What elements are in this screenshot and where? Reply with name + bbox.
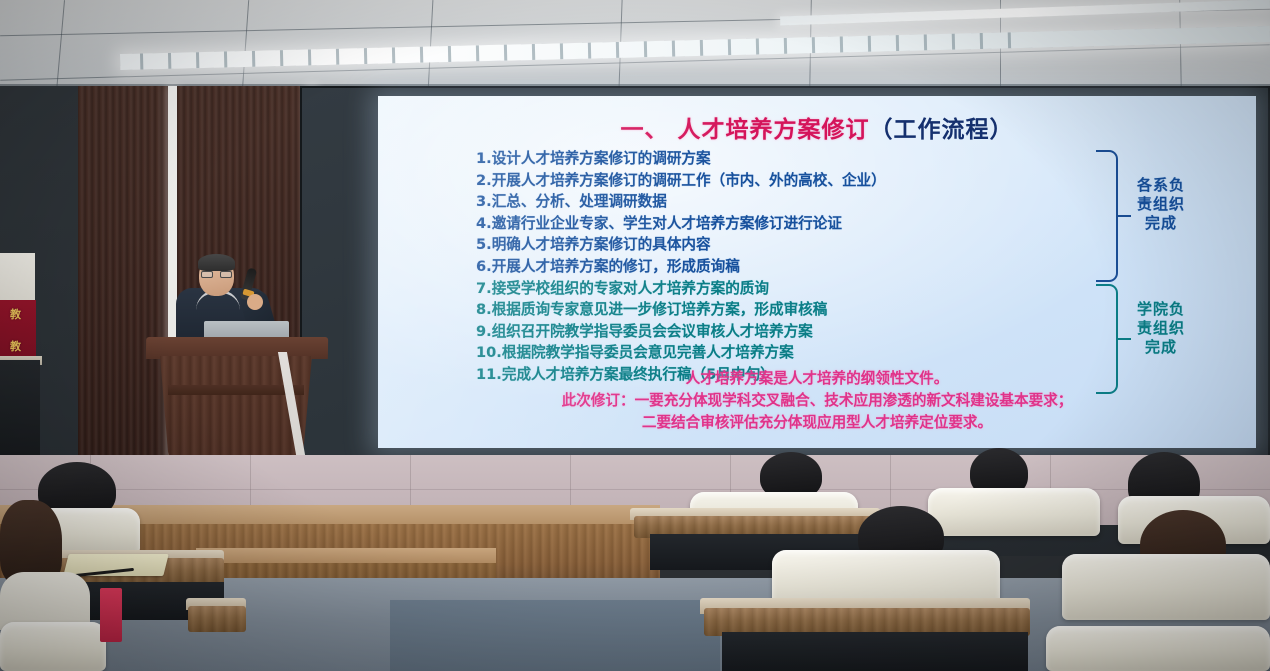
presenter-hand <box>247 294 263 310</box>
banner-char-bottom: 教 <box>10 338 21 354</box>
group-bracket-stem-departments <box>1118 215 1131 217</box>
podium-top <box>146 337 328 359</box>
slide-note-2: 此次修订：一要充分体现学科交叉融合、技术应用渗透的新文科建设基本要求； <box>378 390 1256 411</box>
group-bracket-stem-college <box>1118 338 1131 340</box>
slide-title: 一、 人才培养方案修订（工作流程） <box>378 110 1256 144</box>
red-banner: 教 教 <box>0 300 36 362</box>
slide-note-3: 二要结合审核评估充分体现应用型人才培养定位要求。 <box>378 412 1256 433</box>
group-label-departments: 各系负责组织完成 <box>1134 176 1188 233</box>
presenter-glasses <box>201 271 232 278</box>
list-item: 4.邀请行业企业专家、学生对人才培养方案修订进行论证 <box>476 213 1136 235</box>
ceiling-light-secondary <box>780 0 1270 26</box>
list-item: 8.根据质询专家意见进一步修订培养方案，形成审核稿 <box>476 299 1136 321</box>
slide-title-main: 一、 人才培养方案修订 <box>620 117 869 143</box>
ceiling <box>0 0 1270 92</box>
group-bracket-departments <box>1096 150 1118 282</box>
audience-seat <box>928 488 1100 536</box>
list-item: 7.接受学校组织的专家对人才培养方案的质询 <box>476 278 1136 300</box>
list-item: 3.汇总、分析、处理调研数据 <box>476 191 1136 213</box>
audience-desk <box>188 606 246 632</box>
group-label-college: 学院负责组织完成 <box>1134 300 1188 357</box>
list-item: 9.组织召开院教学指导委员会会议审核人才培养方案 <box>476 321 1136 343</box>
projected-slide: 一、 人才培养方案修订（工作流程） 1.设计人才培养方案修订的调研方案 2.开展… <box>378 96 1256 448</box>
red-chair-pad <box>100 588 122 642</box>
list-item: 1.设计人才培养方案修订的调研方案 <box>476 148 1136 170</box>
list-item: 5.明确人才培养方案修订的具体内容 <box>476 234 1136 256</box>
slide-note-1: 人才培养方案是人才培养的纲领性文件。 <box>378 368 1256 389</box>
ceiling-light-fixture <box>120 26 1270 70</box>
floor-carpet <box>390 600 720 671</box>
list-item: 6.开展人才培养方案的修订，形成质询稿 <box>476 256 1136 278</box>
audience-seat <box>1046 626 1270 671</box>
audience-seat <box>1062 554 1270 620</box>
audience-desk-front <box>722 632 1028 671</box>
side-table <box>0 360 40 470</box>
conference-room-scene: 教 教 一、 人才培养方案修订（工作流程） 1.设计人才培养方案修订的调研方案 … <box>0 0 1270 671</box>
presenter-hair <box>198 254 235 271</box>
slide-step-list: 1.设计人才培养方案修订的调研方案 2.开展人才培养方案修订的调研工作（市内、外… <box>476 148 1136 386</box>
audience-seat <box>0 622 106 671</box>
list-item: 10.根据院教学指导委员会意见完善人才培养方案 <box>476 342 1136 364</box>
list-item: 2.开展人才培养方案修订的调研工作（市内、外的高校、企业） <box>476 170 1136 192</box>
wall-sign-white <box>0 253 35 301</box>
slide-title-paren: （工作流程） <box>870 117 1014 143</box>
banner-char-top: 教 <box>10 306 21 322</box>
